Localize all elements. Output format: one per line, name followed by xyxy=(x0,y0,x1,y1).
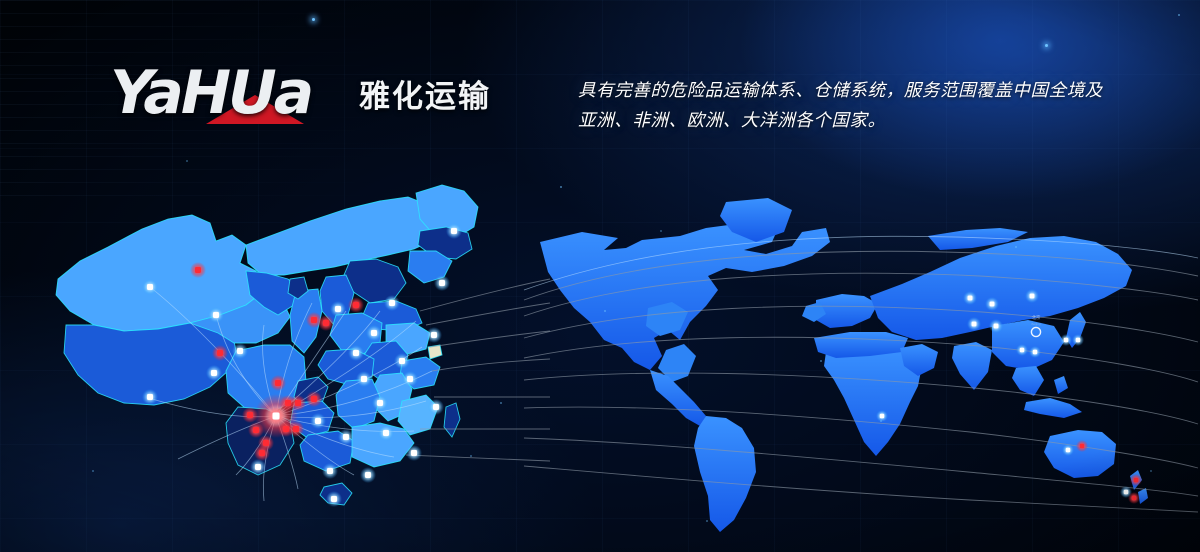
logo-wordmark: YaHUa xyxy=(110,62,345,124)
logo-chinese-name: 雅化运输 xyxy=(359,71,491,116)
china-map xyxy=(50,175,550,552)
company-logo[interactable]: YaHUa 雅化运输 xyxy=(110,62,491,124)
banner-root: 北京 Beijing xyxy=(0,0,1200,552)
marker-label-en: Beijing xyxy=(1031,322,1040,326)
banner-header: YaHUa 雅化运输 具有完善的危险品运输体系、仓储系统，服务范围覆盖中国全境及… xyxy=(0,0,1200,165)
central-hub-marker xyxy=(254,394,298,438)
marker-label-cn: 北京 xyxy=(1032,314,1041,321)
world-map: 北京 Beijing xyxy=(530,180,1190,540)
logo-mark: YaHUa xyxy=(110,62,345,124)
tagline-line-2: 亚洲、非洲、欧洲、大洋洲各个国家。 xyxy=(578,106,1138,136)
world-landmasses xyxy=(540,198,1148,532)
tagline-line-1: 具有完善的危险品运输体系、仓储系统，服务范围覆盖中国全境及 xyxy=(578,76,1138,106)
tagline: 具有完善的危险品运输体系、仓储系统，服务范围覆盖中国全境及 亚洲、非洲、欧洲、大… xyxy=(578,76,1138,136)
